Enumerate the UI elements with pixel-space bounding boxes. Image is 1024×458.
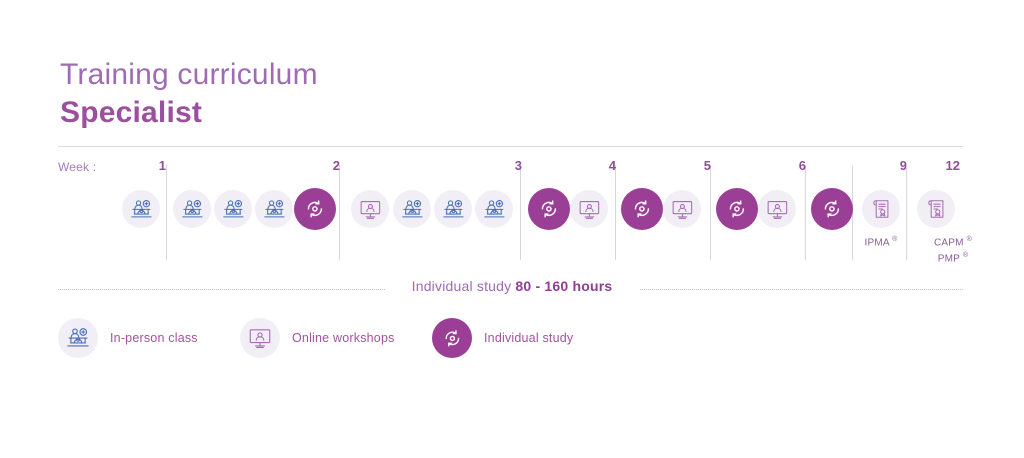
online-workshop-icon [240, 318, 280, 358]
individual-study-prefix: Individual study [412, 278, 516, 294]
week-number-12: 12 [930, 158, 960, 173]
individual-study-icon[interactable] [621, 188, 663, 230]
online-workshop-icon[interactable] [663, 190, 701, 228]
week-number-9: 9 [877, 158, 907, 173]
individual-study-band: Individual study 80 - 160 hours [0, 278, 1024, 304]
in-person-class-icon[interactable] [122, 190, 160, 228]
legend-item: Online workshops [240, 318, 395, 358]
week-divider [166, 165, 167, 260]
week-number-1: 1 [136, 158, 166, 173]
individual-study-icon[interactable] [528, 188, 570, 230]
week-number-3: 3 [492, 158, 522, 173]
title-line-primary: Training curriculum [60, 58, 318, 92]
individual-study-icon[interactable] [294, 188, 336, 230]
legend: In-person class Online workshops Individ… [0, 318, 1024, 364]
individual-study-icon[interactable] [716, 188, 758, 230]
legend-item: Individual study [432, 318, 573, 358]
week-number-6: 6 [776, 158, 806, 173]
in-person-class-icon[interactable] [214, 190, 252, 228]
timeline: Week : 123456912 [0, 150, 1024, 265]
in-person-class-icon[interactable] [475, 190, 513, 228]
certification-label: CAPM ®PMP ® [908, 233, 998, 266]
certificate-icon[interactable] [917, 190, 955, 228]
week-number-5: 5 [681, 158, 711, 173]
individual-study-icon[interactable] [811, 188, 853, 230]
legend-label: In-person class [110, 331, 198, 345]
legend-label: Online workshops [292, 331, 395, 345]
online-workshop-icon[interactable] [570, 190, 608, 228]
week-divider [710, 165, 711, 260]
in-person-class-icon[interactable] [393, 190, 431, 228]
page-title: Training curriculum Specialist [60, 58, 318, 131]
in-person-class-icon[interactable] [173, 190, 211, 228]
individual-study-text: Individual study 80 - 160 hours [0, 278, 1024, 294]
week-number-4: 4 [586, 158, 616, 173]
legend-item: In-person class [58, 318, 198, 358]
in-person-class-icon [58, 318, 98, 358]
week-label: Week : [58, 160, 96, 174]
online-workshop-icon[interactable] [758, 190, 796, 228]
online-workshop-icon[interactable] [351, 190, 389, 228]
individual-study-hours: 80 - 160 hours [515, 278, 612, 294]
header-divider-rule [58, 146, 963, 147]
week-divider [805, 165, 806, 260]
week-divider [520, 165, 521, 260]
week-number-2: 2 [310, 158, 340, 173]
week-divider [339, 165, 340, 260]
title-line-secondary: Specialist [60, 95, 318, 131]
certificate-icon[interactable] [862, 190, 900, 228]
legend-label: Individual study [484, 331, 573, 345]
in-person-class-icon[interactable] [434, 190, 472, 228]
individual-study-icon [432, 318, 472, 358]
week-divider [615, 165, 616, 260]
in-person-class-icon[interactable] [255, 190, 293, 228]
